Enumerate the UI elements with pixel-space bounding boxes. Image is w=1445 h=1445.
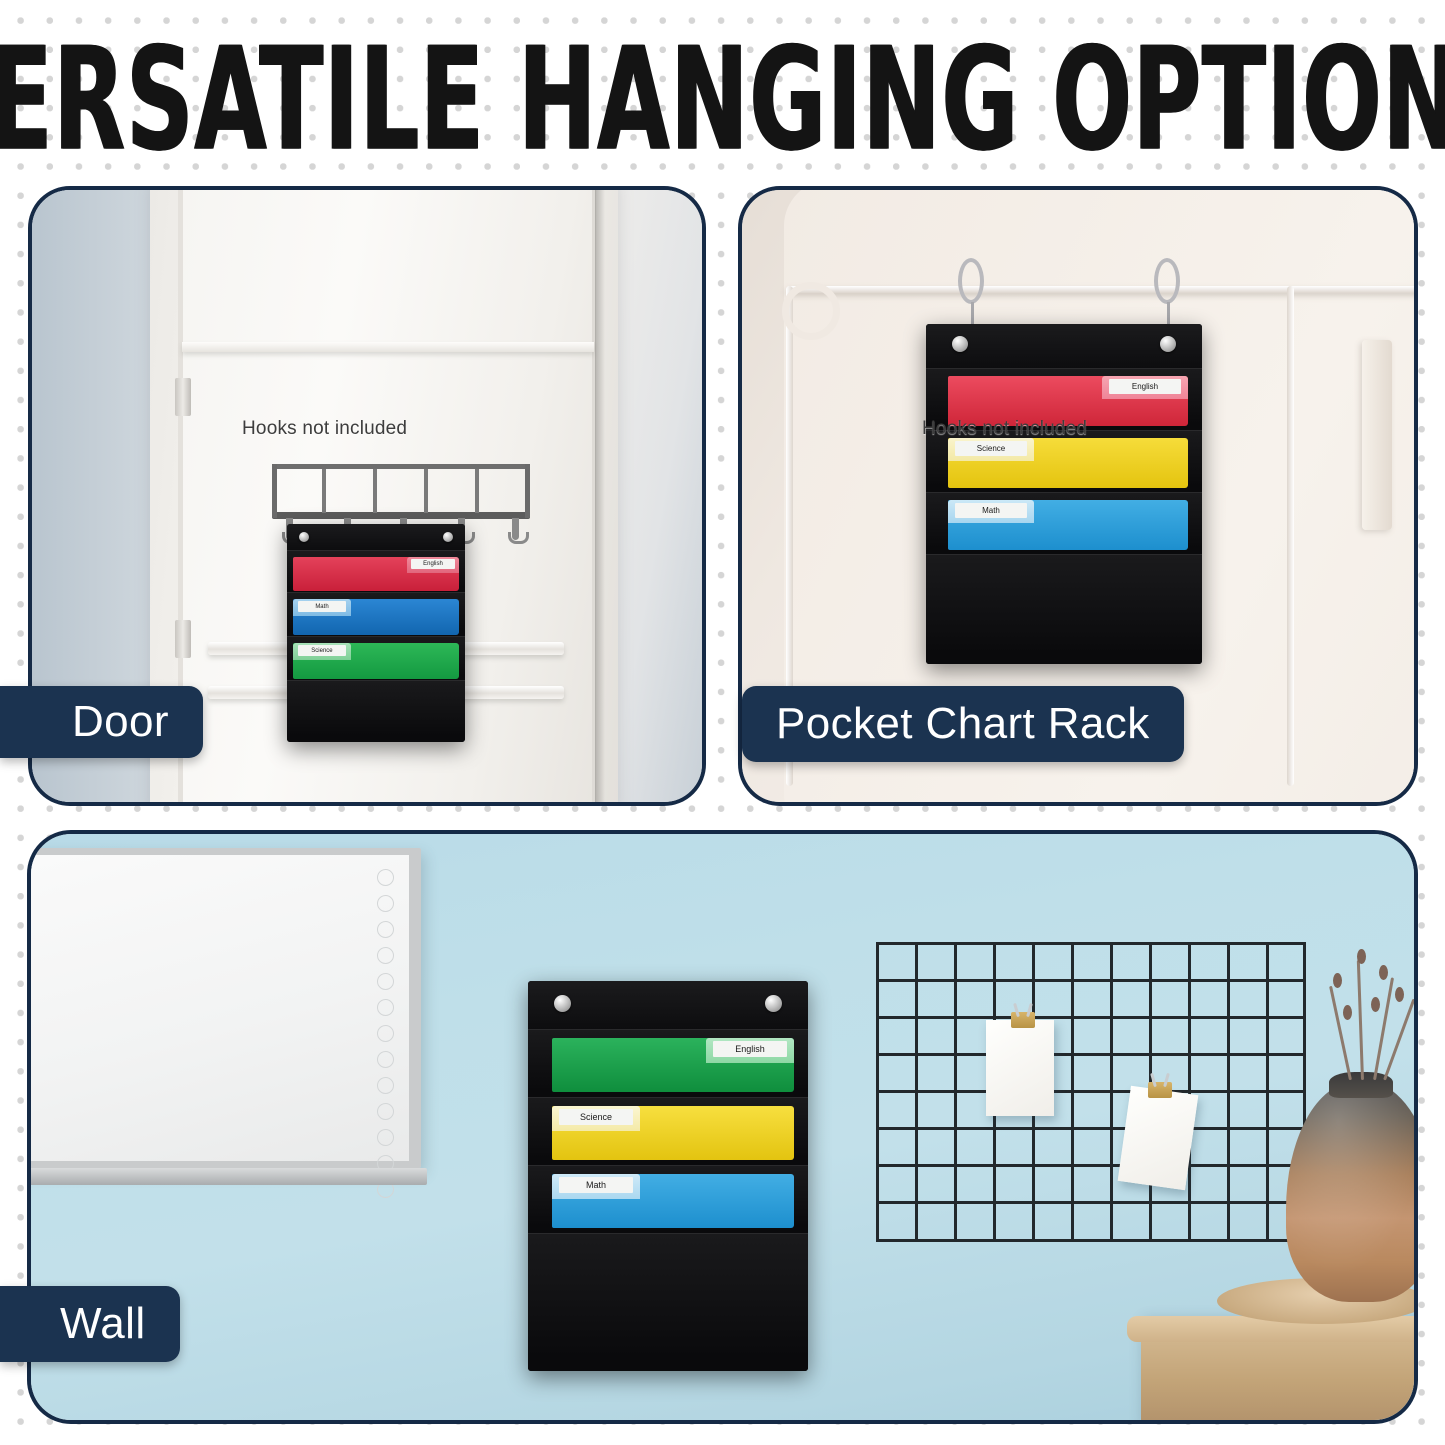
pocket-1: English xyxy=(287,550,465,592)
door-edge-shadow xyxy=(595,190,605,806)
folder-label: Science xyxy=(298,645,347,656)
folder-tab: Math xyxy=(293,599,351,616)
magnet-icon xyxy=(377,895,394,912)
grommet-icon xyxy=(1160,336,1176,352)
folder-tab: English xyxy=(706,1038,794,1063)
folder-tab: English xyxy=(1102,376,1188,399)
grid-wire-v xyxy=(1266,942,1269,1242)
grid-card-2[interactable] xyxy=(1118,1086,1199,1191)
folder-science[interactable]: Science xyxy=(948,438,1188,488)
magnet-icon xyxy=(377,1103,394,1120)
folder-label: English xyxy=(1109,379,1181,394)
grommet-icon xyxy=(952,336,968,352)
grid-card-1[interactable] xyxy=(986,1020,1054,1116)
door-hinge-top-icon xyxy=(175,378,191,416)
grid-wire-v xyxy=(954,942,957,1242)
hooks-note-rack: Hooks not included xyxy=(922,418,1087,440)
pocket-3: Math xyxy=(528,1165,808,1233)
grommet-icon xyxy=(443,532,453,542)
dried-bud xyxy=(1357,949,1366,964)
title-bar: VERSATILE HANGING OPTIONS xyxy=(0,36,1445,164)
rack-rib xyxy=(373,469,377,513)
pocket-chart-door: English Math Science xyxy=(287,524,465,742)
folder-label: Science xyxy=(955,441,1027,456)
dried-bud xyxy=(1371,997,1380,1012)
whiteboard-tray xyxy=(27,1168,427,1185)
rack-rib xyxy=(322,469,326,513)
folder-math[interactable]: Math xyxy=(293,599,459,635)
rack-rib xyxy=(475,469,479,513)
binder-clip-icon-1 xyxy=(1011,1012,1035,1028)
magnet-icon xyxy=(377,921,394,938)
folder-tab: Science xyxy=(552,1106,640,1131)
dried-bud xyxy=(1343,1005,1352,1020)
dried-bud xyxy=(1379,965,1388,980)
grid-wire-v xyxy=(915,942,918,1242)
rack-rod-horizontal xyxy=(786,286,1418,293)
grid-wire-h xyxy=(876,1016,1306,1019)
folder-english[interactable]: English xyxy=(293,557,459,591)
magnet-icon xyxy=(377,1025,394,1042)
folder-tab: Science xyxy=(948,438,1034,461)
whiteboard-magnets xyxy=(377,869,399,1207)
s-ring-icon-right xyxy=(1154,258,1180,304)
rack-rib xyxy=(424,469,428,513)
pocket-3: Science xyxy=(287,636,465,680)
rack-rod-right xyxy=(1287,286,1294,786)
grommet-icon xyxy=(554,995,571,1012)
folder-science[interactable]: Science xyxy=(552,1106,794,1160)
panel-wall: English Science Math xyxy=(27,830,1418,1424)
grommet-icon xyxy=(765,995,782,1012)
folder-label: English xyxy=(713,1041,787,1057)
magnet-icon xyxy=(377,869,394,886)
grid-wire-h xyxy=(876,1127,1306,1130)
rack-corner-left xyxy=(782,282,840,340)
folder-label: Math xyxy=(298,601,347,612)
magnet-icon xyxy=(377,1077,394,1094)
s-ring-icon-left xyxy=(958,258,984,304)
wall-scene: English Science Math xyxy=(31,834,1414,1420)
whiteboard xyxy=(27,848,421,1168)
chart-header xyxy=(926,324,1202,368)
pocket-chart-wall: English Science Math xyxy=(528,981,808,1371)
pocket-4-empty xyxy=(287,680,465,742)
page-title: VERSATILE HANGING OPTIONS xyxy=(0,18,1445,183)
wire-grid-board xyxy=(876,942,1306,1242)
folder-tab: Science xyxy=(293,643,351,660)
chart-header xyxy=(528,981,808,1029)
over-door-hook-rack[interactable] xyxy=(272,464,530,530)
rack-top-bar xyxy=(272,464,530,469)
magnet-icon xyxy=(377,999,394,1016)
door-hinge-bottom-icon xyxy=(175,620,191,658)
pocket-4-empty xyxy=(528,1233,808,1371)
folder-math[interactable]: Math xyxy=(552,1174,794,1228)
grommet-icon xyxy=(299,532,309,542)
pocket-4-empty xyxy=(926,554,1202,664)
badge-wall: Wall xyxy=(0,1286,180,1362)
wall-fixture xyxy=(1362,340,1392,530)
grid-wire-v xyxy=(1071,942,1074,1242)
grid-wire-v xyxy=(1110,942,1113,1242)
dried-bud xyxy=(1333,973,1342,988)
door-top-rail xyxy=(182,342,594,352)
grid-wire-h xyxy=(876,1164,1306,1167)
hook-icon xyxy=(512,518,519,540)
badge-rack: Pocket Chart Rack xyxy=(742,686,1184,762)
folder-science[interactable]: Science xyxy=(293,643,459,679)
grid-wire-h xyxy=(876,1053,1306,1056)
folder-label: Math xyxy=(955,503,1027,518)
dried-bud xyxy=(1395,987,1404,1002)
rack-side-left xyxy=(272,464,277,518)
pocket-2: Math xyxy=(287,592,465,636)
folder-english[interactable]: English xyxy=(552,1038,794,1092)
pocket-3: Math xyxy=(926,492,1202,554)
grid-wire-h xyxy=(876,1201,1306,1204)
magnet-icon xyxy=(377,973,394,990)
binder-clip-icon-2 xyxy=(1148,1082,1172,1098)
grid-wire-h xyxy=(876,979,1306,982)
pocket-1: English xyxy=(528,1029,808,1097)
folder-label: Math xyxy=(559,1177,633,1193)
grid-wire-h xyxy=(876,942,1306,945)
chart-header xyxy=(287,524,465,550)
folder-label: Science xyxy=(559,1109,633,1125)
grid-wire-v xyxy=(1188,942,1191,1242)
pocket-2: Science xyxy=(528,1097,808,1165)
rack-side-right xyxy=(525,464,530,518)
magnet-icon xyxy=(377,1129,394,1146)
folder-tab: Math xyxy=(948,500,1034,523)
folder-label: English xyxy=(411,559,455,569)
pocket-chart-rack: English Science Math xyxy=(926,324,1202,664)
folder-tab: English xyxy=(407,557,459,573)
magnet-icon xyxy=(377,947,394,964)
grid-wire-v xyxy=(876,942,879,1242)
grid-wire-v xyxy=(1227,942,1230,1242)
hooks-note-door: Hooks not included xyxy=(242,418,407,440)
folder-math[interactable]: Math xyxy=(948,500,1188,550)
badge-door: Door xyxy=(0,686,203,758)
magnet-icon xyxy=(377,1051,394,1068)
folder-tab: Math xyxy=(552,1174,640,1199)
grid-wire-h xyxy=(876,1090,1306,1093)
grid-wire-h xyxy=(876,1239,1306,1242)
